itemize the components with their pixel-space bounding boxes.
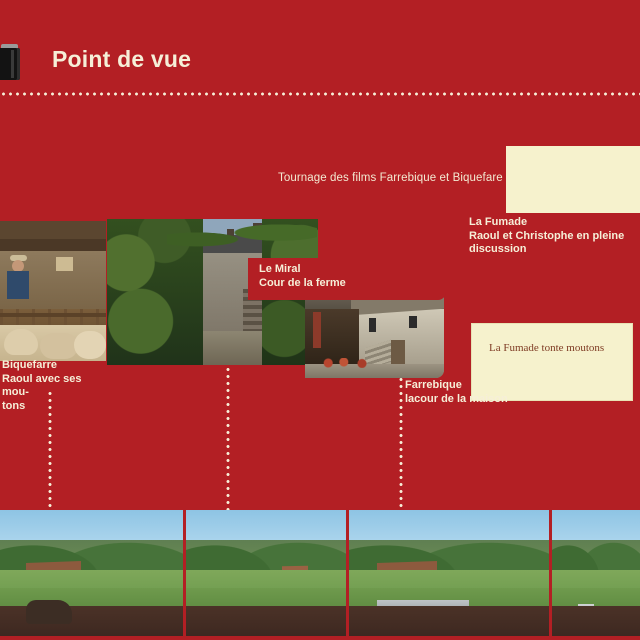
caption-farrebique: Farrebique lacour de la maison [405,379,565,406]
panorama-foreground-object [26,600,72,624]
photo-farrebique-house[interactable] [305,292,444,378]
page-title: Point de vue [52,46,191,73]
slide-canvas: Point de vue Tournage des films Farrebiq… [0,0,640,640]
photo-detail [313,312,321,348]
photo-detail [0,313,106,317]
caption-title: Biquefarre [2,359,102,373]
lead-label: Tournage des films Farrebique et Biquefa… [278,172,503,184]
panorama-segment [552,510,640,640]
caption-la-fumade: La Fumade Raoul et Christophe en pleine … [469,216,637,257]
photo-detail [409,316,417,328]
cream-panel-la-fumade-photo[interactable] [506,146,640,213]
caption-biquefarre: Biquefarre Raoul avec ses mou- tons [2,359,102,413]
photo-detail [0,239,106,251]
note-tonte-moutons: La Fumade tonte moutons [489,342,604,354]
photo-detail [40,333,78,359]
caption-title: Le Miral [259,263,439,277]
photo-detail [4,329,38,355]
photo-detail [74,331,106,359]
caption-title: Farrebique [405,379,565,393]
photo-detail [0,221,106,239]
photo-person [6,255,30,299]
caption-le-miral: Le Miral Cour de la ferme [259,263,439,290]
photo-detail [391,340,405,365]
film-camera-icon [0,44,22,82]
panorama-segment [0,510,183,640]
photo-biquefarre-sheep[interactable] [0,221,106,361]
caption-subtitle: Cour de la ferme [259,277,439,291]
photo-detail [56,257,73,271]
caption-subtitle: Raoul avec ses mou- tons [2,373,102,414]
photo-detail [369,318,376,332]
panorama-segment [349,510,549,640]
caption-subtitle: lacour de la maison [405,393,565,407]
caption-subtitle: Raoul et Christophe en pleine discussion [469,230,637,257]
camera-strip [11,50,14,78]
photo-detail [323,358,375,368]
panorama-landscape[interactable] [0,510,640,640]
camera-body [0,48,20,80]
caption-title: La Fumade [469,216,637,230]
photo-detail [167,219,317,253]
panorama-segment [186,510,346,640]
panorama-bottom-band [0,636,640,640]
header-divider [0,92,640,96]
